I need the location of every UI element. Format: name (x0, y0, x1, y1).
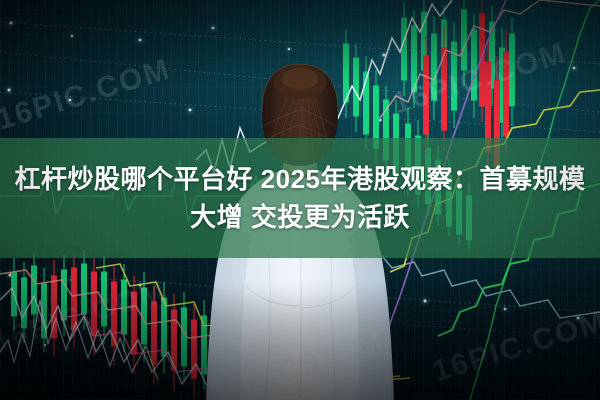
banner-image: 杠杆炒股哪个平台好 2025年港股观察：首募规模 大增 交投更为活跃 16PIC… (0, 0, 600, 400)
vignette-overlay (0, 0, 600, 400)
